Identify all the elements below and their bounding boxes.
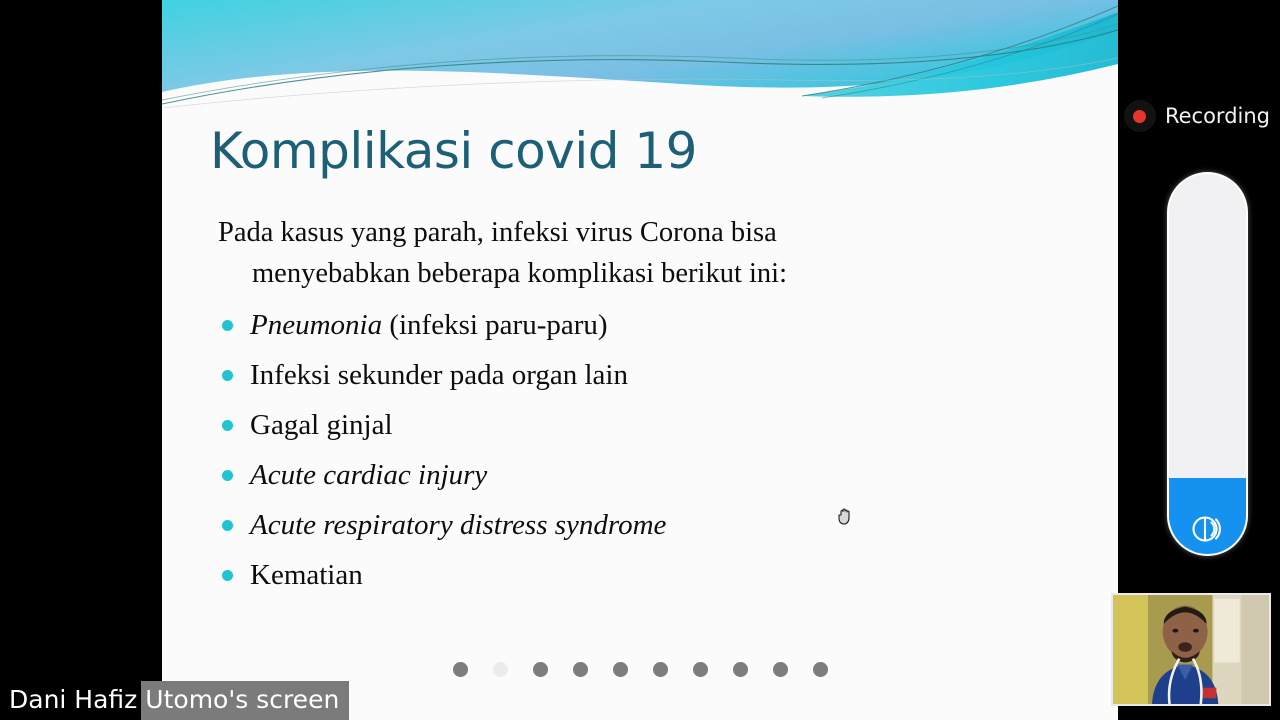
slide-nav-dot-1[interactable] [453,662,468,677]
speaker-sound-icon[interactable] [1169,510,1246,548]
slide-banner-decoration [162,0,1118,108]
bullet-dot-icon [222,520,233,531]
slide-intro-line-1: Pada kasus yang parah, infeksi virus Cor… [218,217,777,248]
slide-intro-paragraph: Pada kasus yang parah, infeksi virus Cor… [218,212,1008,294]
bullet-text: Kematian [250,559,363,591]
bullet-dot-icon [222,470,233,481]
bullet-item: Kematian [214,550,1054,600]
slide-nav-dot-3[interactable] [533,662,548,677]
bullet-text: Acute respiratory distress syndrome [250,509,666,541]
bullet-text: Infeksi sekunder pada organ lain [250,359,628,391]
bullet-item: Pneumonia (infeksi paru-paru) [214,300,1054,350]
bullet-dot-icon [222,420,233,431]
slide-nav-dot-6[interactable] [653,662,668,677]
participant-screen-label: Dani Hafiz Utomo's screen [0,681,349,720]
slide-nav-dot-5[interactable] [613,662,628,677]
slide-nav-dot-10[interactable] [813,662,828,677]
slide-nav-dot-9[interactable] [773,662,788,677]
record-dot-icon [1124,100,1156,132]
bullet-item: Infeksi sekunder pada organ lain [214,350,1054,400]
banner-wave-graphic [162,0,1118,108]
volume-slider[interactable] [1167,172,1248,556]
webcam-video-frame [1113,595,1269,704]
slide-nav-dot-4[interactable] [573,662,588,677]
bullet-dot-icon [222,570,233,581]
slide-nav-dot-8[interactable] [733,662,748,677]
shared-screen-area[interactable]: Komplikasi covid 19 Pada kasus yang para… [162,0,1118,720]
bullet-item: Acute respiratory distress syndrome [214,500,1054,550]
bullet-text: Gagal ginjal [250,409,393,441]
slide-nav-dot-7[interactable] [693,662,708,677]
self-view-thumbnail[interactable] [1111,593,1271,706]
screen-share-label: Utomo's screen [141,681,349,720]
bullet-dot-icon [222,320,233,331]
bullet-text: Acute cardiac injury [250,459,487,491]
bullet-dot-icon [222,370,233,381]
bullet-text: Pneumonia [250,309,382,341]
slide-bullet-list: Pneumonia (infeksi paru-paru)Infeksi sek… [214,300,1054,600]
recording-indicator[interactable]: Recording [1124,100,1270,132]
grab-hand-cursor [838,506,856,526]
slide-intro-line-2: menyebabkan beberapa komplikasi berikut … [218,253,1008,294]
bullet-item: Gagal ginjal [214,400,1054,450]
participant-name-label: Dani Hafiz [0,681,141,720]
bullet-text-tail: (infeksi paru-paru) [382,309,607,341]
slide-title: Komplikasi covid 19 [210,122,697,180]
bullet-item: Acute cardiac injury [214,450,1054,500]
screen-share-viewport: Komplikasi covid 19 Pada kasus yang para… [0,0,1280,720]
recording-label: Recording [1165,104,1270,128]
slide-navigation-dots[interactable] [162,662,1118,677]
slide-nav-dot-2[interactable] [493,662,508,677]
